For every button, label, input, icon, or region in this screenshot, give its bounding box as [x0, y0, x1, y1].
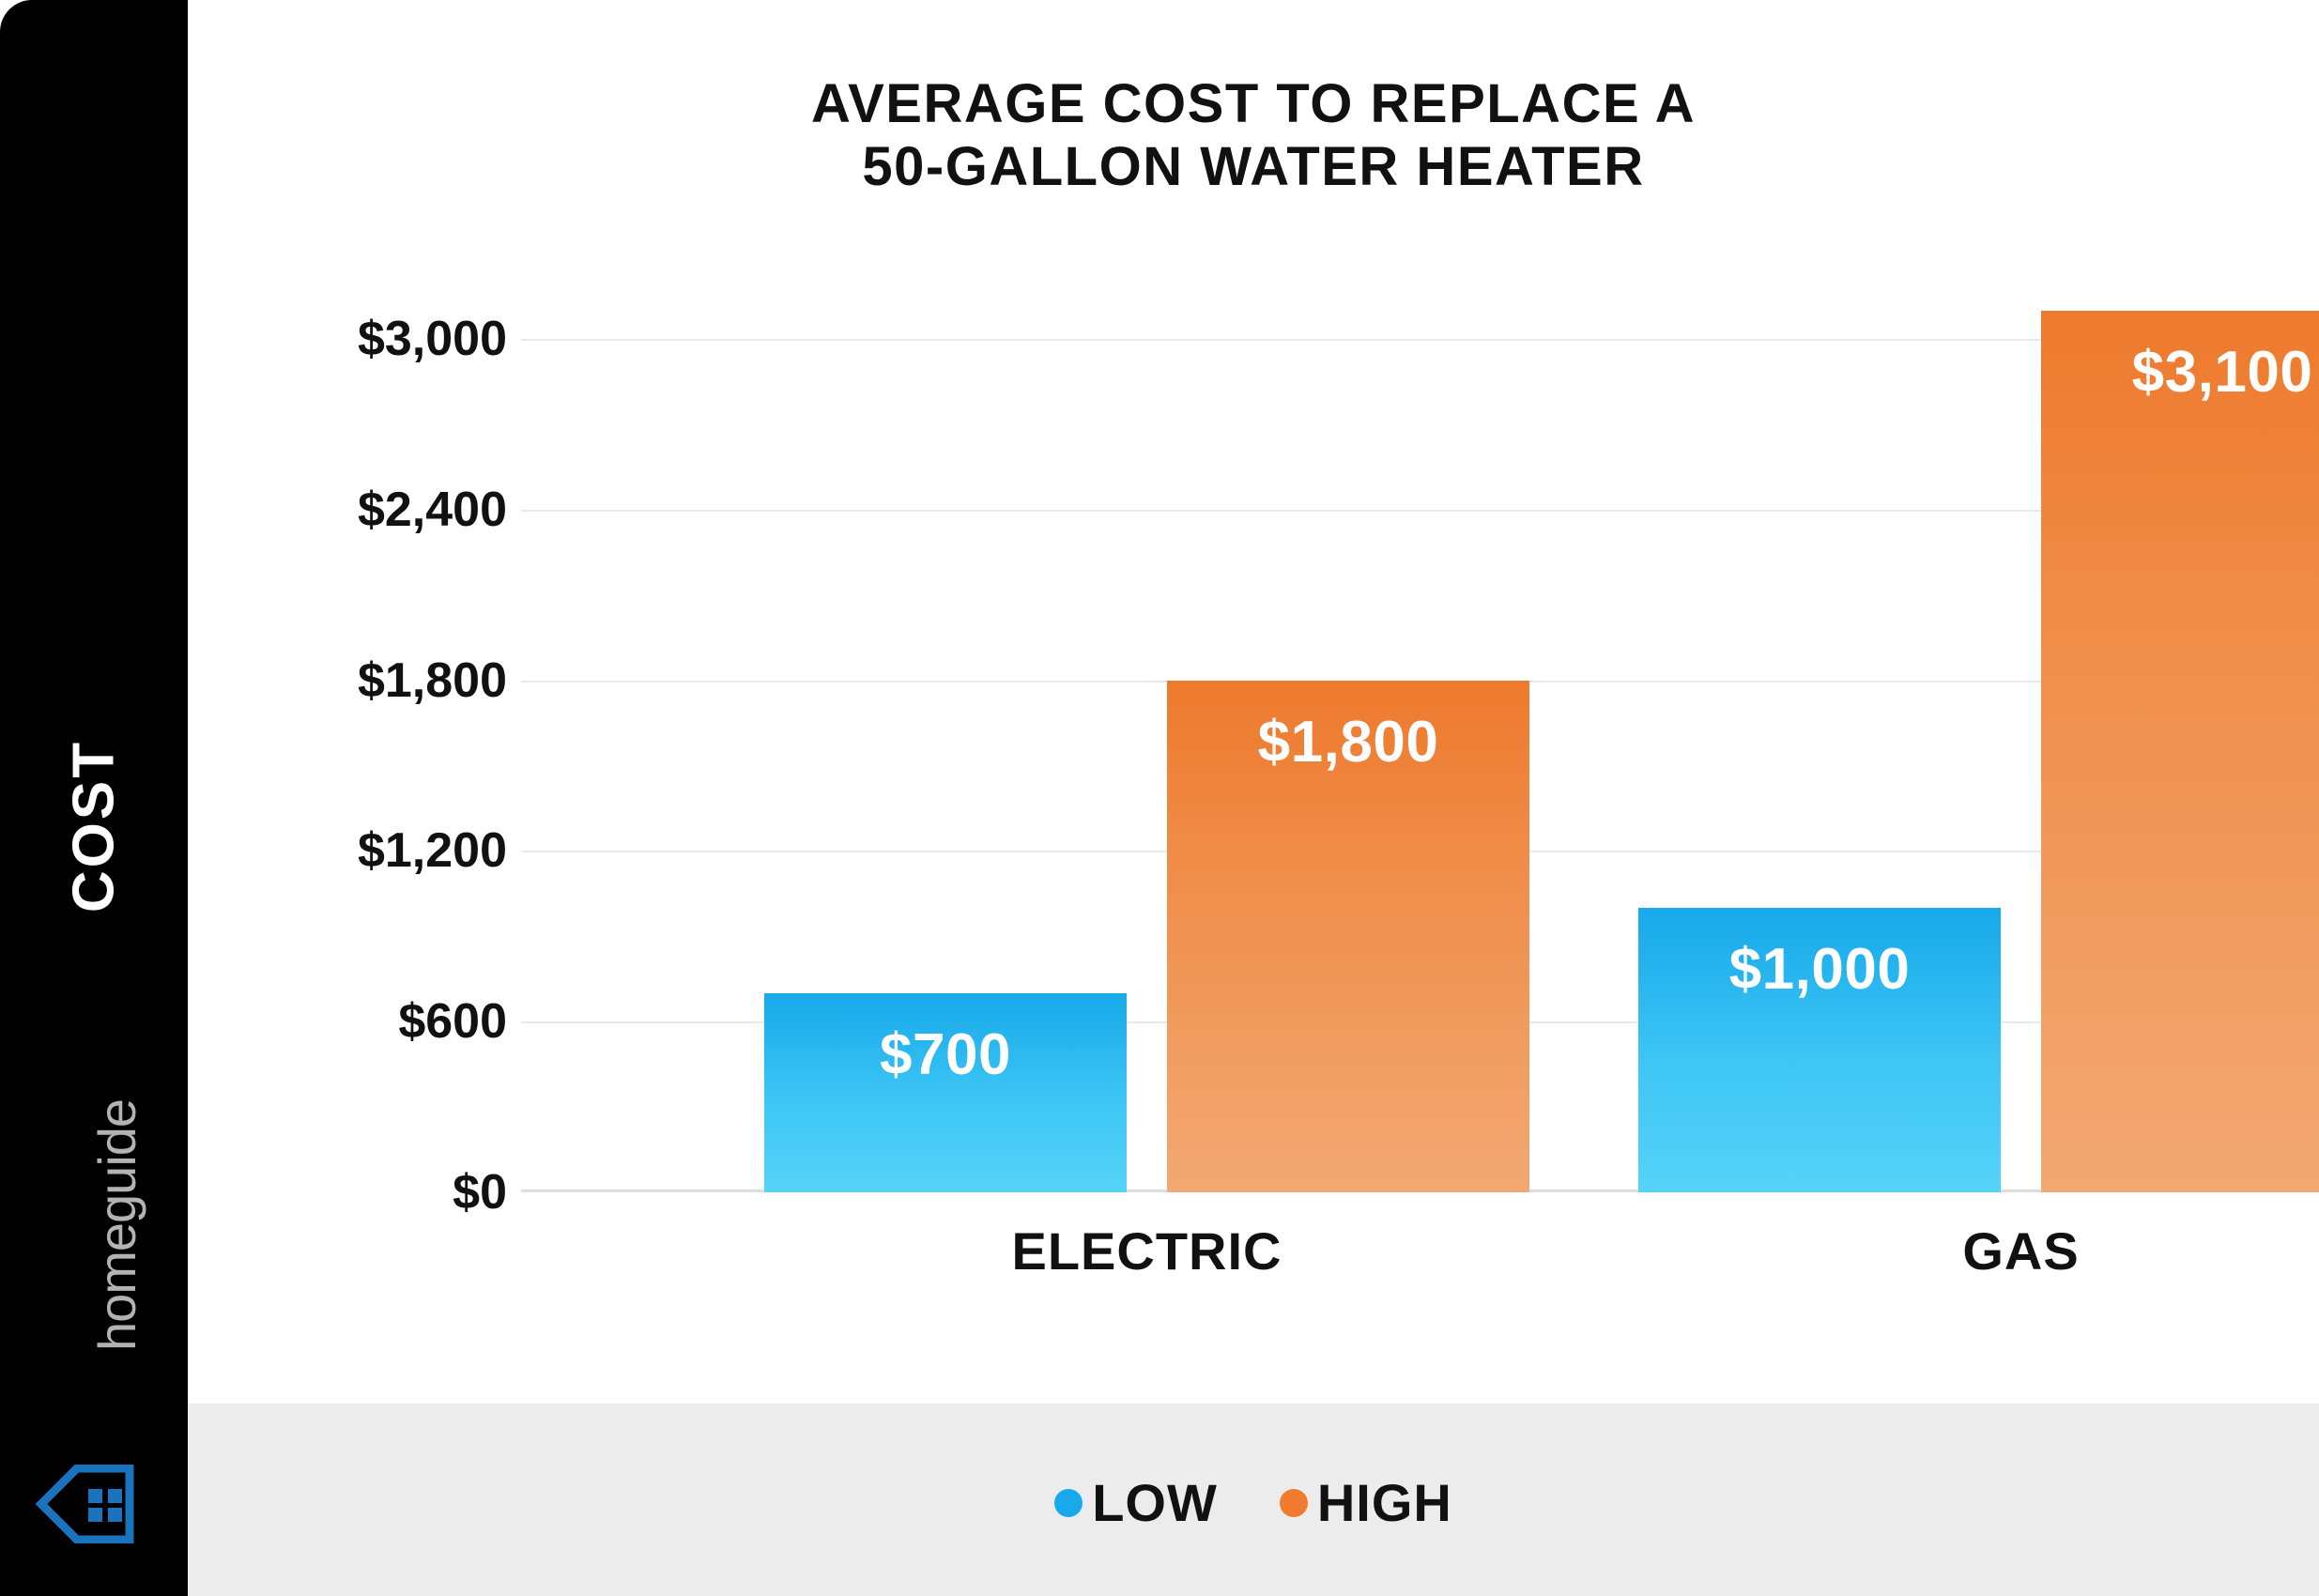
gridline [521, 510, 2244, 512]
plot-area: $700 $1,800 $1,000 $3,100 [521, 253, 2244, 1192]
y-axis-tick-label: $1,200 [358, 822, 507, 879]
y-axis-tick-label: $600 [398, 993, 507, 1050]
y-axis-title-container: COST [0, 0, 188, 1596]
bar-electric-low[interactable]: $700 [764, 993, 1127, 1192]
bar-electric-high[interactable]: $1,800 [1167, 681, 1529, 1192]
gridline [521, 339, 2244, 341]
infographic-root: COST homeguide AVERAGE COST TO REPLACE A… [0, 0, 2319, 1596]
x-axis-category-label-electric: ELECTRIC [764, 1220, 1529, 1281]
legend-dot-icon [1280, 1489, 1308, 1517]
x-axis-category-label-gas: GAS [1638, 1220, 2319, 1281]
y-axis: $3,000 $2,400 $1,800 $1,200 $600 $0 [197, 253, 507, 1192]
plot-wrapper: $3,000 $2,400 $1,800 $1,200 $600 $0 $700 [188, 0, 2319, 1404]
legend: LOW HIGH [188, 1404, 2319, 1596]
legend-item-low[interactable]: LOW [1054, 1477, 1218, 1529]
legend-dot-icon [1054, 1489, 1083, 1517]
brand-wordmark: homeguide [86, 1099, 147, 1351]
legend-items: LOW HIGH [1054, 1477, 1452, 1529]
chart-panel: AVERAGE COST TO REPLACE A 50-GALLON WATE… [188, 0, 2319, 1404]
sidebar: COST homeguide [0, 0, 188, 1596]
bar-value-label: $700 [764, 1021, 1127, 1088]
bar-gas-low[interactable]: $1,000 [1638, 908, 2001, 1192]
x-axis-category-labels: ELECTRIC GAS [521, 1220, 2244, 1305]
y-axis-title: COST [61, 740, 128, 913]
legend-item-high[interactable]: HIGH [1280, 1477, 1452, 1529]
legend-item-label: HIGH [1317, 1477, 1452, 1529]
bar-value-label: $1,800 [1167, 709, 1529, 775]
y-axis-tick-label: $3,000 [358, 311, 507, 367]
y-axis-tick-label: $1,800 [358, 652, 507, 709]
bar-value-label: $3,100 [2041, 339, 2319, 406]
y-axis-tick-label: $0 [453, 1164, 507, 1220]
bar-value-label: $1,000 [1638, 936, 2001, 1003]
bar-gas-high[interactable]: $3,100 [2041, 311, 2319, 1192]
homeguide-house-logo-icon [36, 1465, 137, 1543]
y-axis-tick-label: $2,400 [358, 482, 507, 538]
legend-item-label: LOW [1092, 1477, 1218, 1529]
